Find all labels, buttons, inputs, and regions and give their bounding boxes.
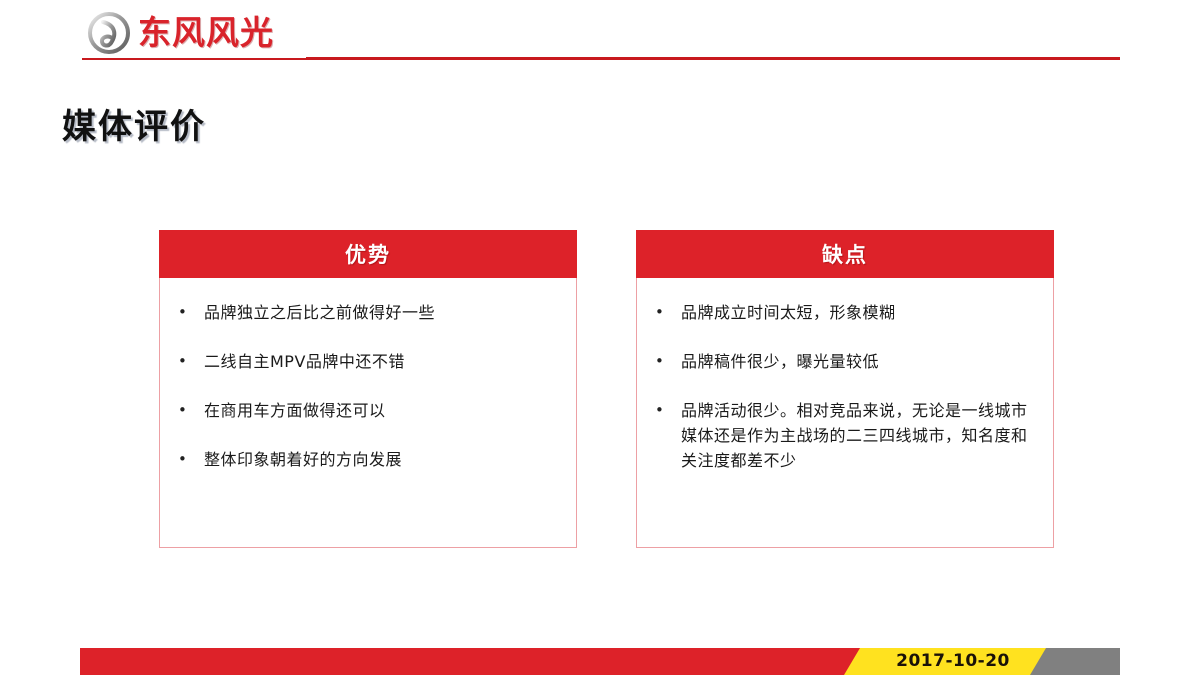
advantages-card-header: 优势: [159, 230, 577, 278]
advantages-list: • 品牌独立之后比之前做得好一些 • 二线自主MPV品牌中还不错 • 在商用车方…: [176, 300, 560, 472]
disadvantages-card-body: • 品牌成立时间太短，形象模糊 • 品牌稿件很少，曝光量较低 • 品牌活动很少。…: [636, 278, 1054, 548]
comparison-cards: 优势 • 品牌独立之后比之前做得好一些 • 二线自主MPV品牌中还不错 • 在商…: [0, 0, 1200, 675]
bullet-dot-icon: •: [653, 349, 681, 374]
footer-date: 2017-10-20: [860, 648, 1046, 675]
list-item: • 品牌活动很少。相对竞品来说，无论是一线城市媒体还是作为主战场的二三四线城市，…: [653, 398, 1037, 473]
advantages-card-body: • 品牌独立之后比之前做得好一些 • 二线自主MPV品牌中还不错 • 在商用车方…: [159, 278, 577, 548]
list-item: • 整体印象朝着好的方向发展: [176, 447, 560, 472]
bullet-dot-icon: •: [653, 398, 681, 423]
disadvantages-list: • 品牌成立时间太短，形象模糊 • 品牌稿件很少，曝光量较低 • 品牌活动很少。…: [653, 300, 1037, 473]
list-item: • 二线自主MPV品牌中还不错: [176, 349, 560, 374]
slide-footer: 2017-10-20: [0, 645, 1200, 675]
bullet-dot-icon: •: [176, 398, 204, 423]
disadvantages-card-title: 缺点: [822, 239, 868, 269]
bullet-dot-icon: •: [176, 349, 204, 374]
list-item-text: 品牌稿件很少，曝光量较低: [681, 349, 879, 374]
list-item-text: 品牌成立时间太短，形象模糊: [681, 300, 896, 325]
footer-date-banner: 2017-10-20: [860, 648, 1046, 675]
disadvantages-card: 缺点 • 品牌成立时间太短，形象模糊 • 品牌稿件很少，曝光量较低 • 品牌活动…: [636, 230, 1054, 548]
footer-red-bar: [80, 648, 860, 675]
list-item: • 品牌成立时间太短，形象模糊: [653, 300, 1037, 325]
bullet-dot-icon: •: [176, 447, 204, 472]
list-item-text: 二线自主MPV品牌中还不错: [204, 349, 405, 374]
list-item: • 品牌稿件很少，曝光量较低: [653, 349, 1037, 374]
list-item-text: 整体印象朝着好的方向发展: [204, 447, 402, 472]
list-item: • 在商用车方面做得还可以: [176, 398, 560, 423]
list-item: • 品牌独立之后比之前做得好一些: [176, 300, 560, 325]
list-item-text: 在商用车方面做得还可以: [204, 398, 386, 423]
disadvantages-card-header: 缺点: [636, 230, 1054, 278]
list-item-text: 品牌独立之后比之前做得好一些: [204, 300, 435, 325]
advantages-card-title: 优势: [345, 239, 391, 269]
bullet-dot-icon: •: [653, 300, 681, 325]
advantages-card: 优势 • 品牌独立之后比之前做得好一些 • 二线自主MPV品牌中还不错 • 在商…: [159, 230, 577, 548]
footer-gray-bar: [1046, 648, 1120, 675]
bullet-dot-icon: •: [176, 300, 204, 325]
list-item-text: 品牌活动很少。相对竞品来说，无论是一线城市媒体还是作为主战场的二三四线城市，知名…: [681, 398, 1037, 473]
